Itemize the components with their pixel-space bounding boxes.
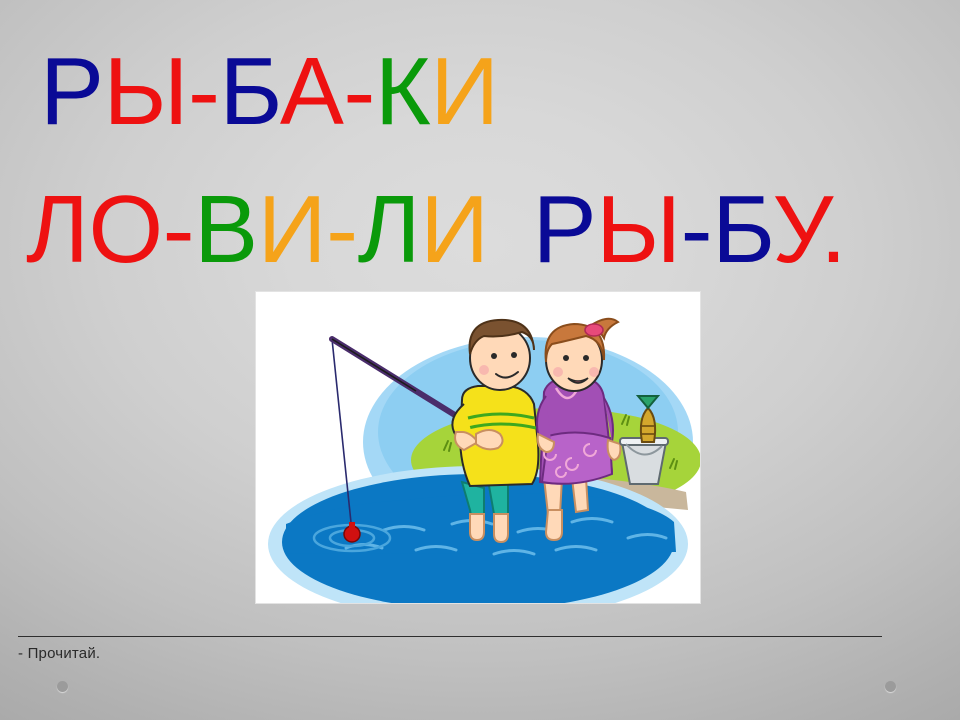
line1-glyph-1: Ы [104,38,188,145]
footer-note: - Прочитай. [18,645,100,662]
line2-word1-glyph-4: И [258,176,327,283]
line2-word1-glyph-6: Л [358,176,421,283]
line2-word1-glyph-2: - [163,176,194,283]
headline-line-2: ЛО-ВИ-ЛИРЫ-БУ. [0,182,960,278]
illustration-frame [256,292,700,603]
line1-glyph-5: - [343,38,374,145]
line1-glyph-0: Р [40,38,104,145]
fishing-scene-illustration [256,292,700,603]
footer-divider [18,636,882,637]
line2-word2-glyph-2: - [681,176,712,283]
headline-line-1: РЫ-БА-КИ [0,44,960,140]
line2-word2-glyph-1: Ы [596,176,680,283]
line2-word1-glyph-0: Л [26,176,89,283]
line2-word1-glyph-5: - [326,176,357,283]
line1-glyph-3: Б [219,38,279,145]
line2-word1-glyph-3: В [194,176,258,283]
line2-word2-glyph-4: У [772,176,820,283]
line2-word1-glyph-7: И [420,176,489,283]
decorative-dot-left-icon [57,681,68,692]
line2-word2-glyph-0: Р [533,176,597,283]
line1-glyph-7: И [430,38,499,145]
decorative-dot-right-icon [885,681,896,692]
line2-word2-glyph-3: Б [712,176,772,283]
line2-word2-glyph-5: . [820,176,846,283]
line2-word1-glyph-1: О [89,176,163,283]
slide-canvas: РЫ-БА-КИ ЛО-ВИ-ЛИРЫ-БУ. [0,0,960,720]
line1-glyph-6: К [375,38,430,145]
line1-glyph-4: А [280,38,344,145]
line1-glyph-2: - [188,38,219,145]
